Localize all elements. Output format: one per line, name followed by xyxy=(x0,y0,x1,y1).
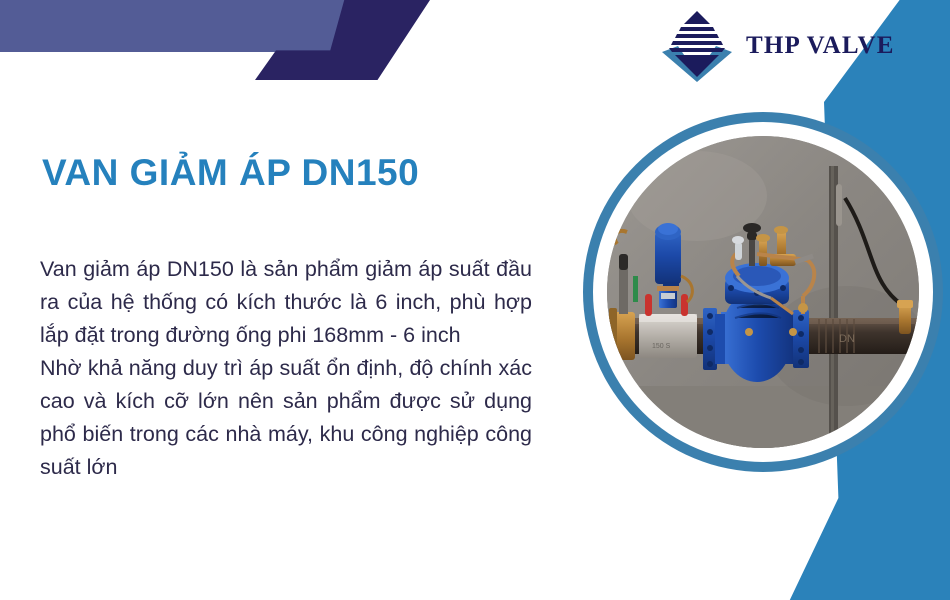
product-photo: DN 150 S xyxy=(607,136,919,448)
product-photo-ring: DN 150 S xyxy=(583,112,943,472)
brand-name: THP VALVE xyxy=(746,32,895,60)
product-banner: THP VALVE xyxy=(0,0,950,600)
svg-text:150 S: 150 S xyxy=(652,343,671,350)
striped-diamond-logo-icon xyxy=(658,8,736,84)
brand-logo: THP VALVE xyxy=(658,8,895,84)
product-description: Van giảm áp DN150 là sản phẩm giảm áp su… xyxy=(40,253,532,484)
page-title: VAN GIẢM ÁP DN150 xyxy=(42,152,419,194)
description-paragraph-1: Van giảm áp DN150 là sản phẩm giảm áp su… xyxy=(40,253,532,352)
description-paragraph-2: Nhờ khả năng duy trì áp suất ổn định, độ… xyxy=(40,352,532,484)
svg-text:DN: DN xyxy=(839,333,855,345)
